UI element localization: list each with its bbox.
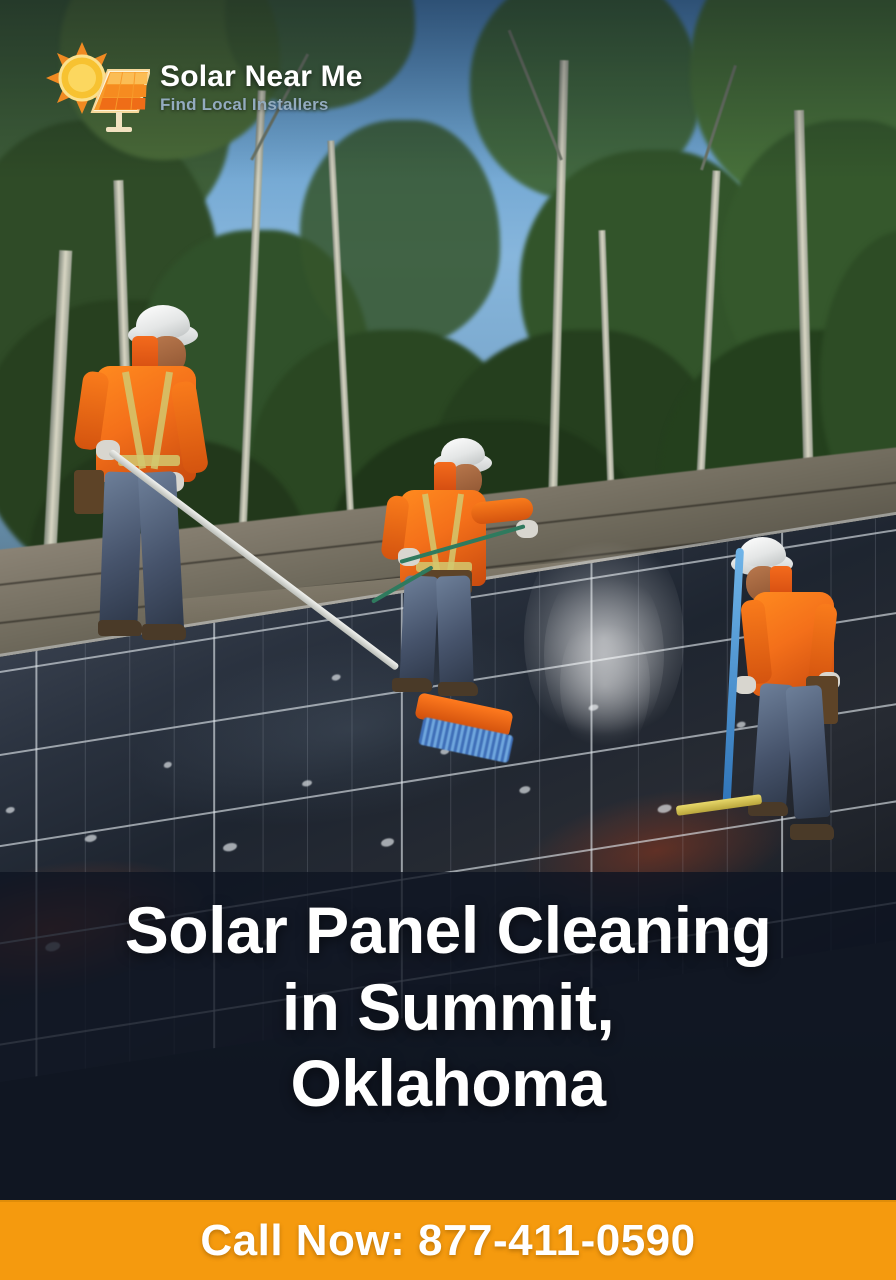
brand-name: Solar Near Me: [160, 61, 363, 93]
headline-line-2: in Summit,: [282, 970, 614, 1044]
call-now-bar[interactable]: Call Now: 877-411-0590: [0, 1200, 896, 1280]
brand-tagline: Find Local Installers: [160, 95, 363, 115]
sun-solar-panel-icon: [46, 40, 150, 136]
headline-line-1: Solar Panel Cleaning: [125, 893, 772, 967]
headline-line-3: Oklahoma: [290, 1046, 605, 1120]
brand-text: Solar Near Me Find Local Installers: [160, 61, 363, 116]
page-title: Solar Panel Cleaning in Summit, Oklahoma: [0, 892, 896, 1122]
brand-logo[interactable]: Solar Near Me Find Local Installers: [46, 40, 363, 136]
poster: Solar Near Me Find Local Installers Sola…: [0, 0, 896, 1280]
call-now-label[interactable]: Call Now: 877-411-0590: [200, 1216, 695, 1266]
